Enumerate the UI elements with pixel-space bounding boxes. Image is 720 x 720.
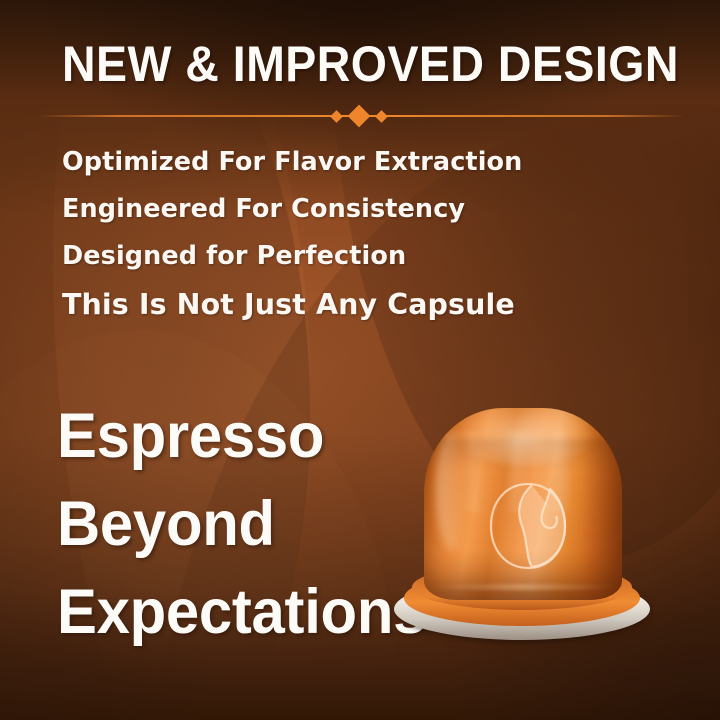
divider-diamond-right-icon — [375, 110, 388, 123]
tagline-line: Expectations — [57, 568, 426, 656]
feature-item: Designed for Perfection — [62, 233, 622, 280]
capsule-body — [424, 408, 622, 600]
page-title: NEW & IMPROVED DESIGN — [62, 39, 679, 89]
feature-list: Optimized For Flavor Extraction Engineer… — [62, 139, 622, 330]
tagline-line: Beyond — [57, 480, 426, 568]
coffee-bean-icon — [486, 480, 570, 572]
divider-diamond-center-icon — [348, 105, 371, 128]
divider-diamond-left-icon — [330, 110, 343, 123]
product-image-capsule — [388, 398, 656, 648]
divider — [38, 106, 684, 126]
feature-item: Optimized For Flavor Extraction — [62, 139, 622, 186]
capsule-left-highlight — [436, 431, 468, 550]
feature-item: Engineered For Consistency — [62, 186, 622, 233]
promo-poster: NEW & IMPROVED DESIGN Optimized For Flav… — [0, 0, 720, 720]
feature-item-emphasis: This Is Not Just Any Capsule — [62, 280, 622, 330]
tagline-line: Espresso — [57, 392, 426, 480]
